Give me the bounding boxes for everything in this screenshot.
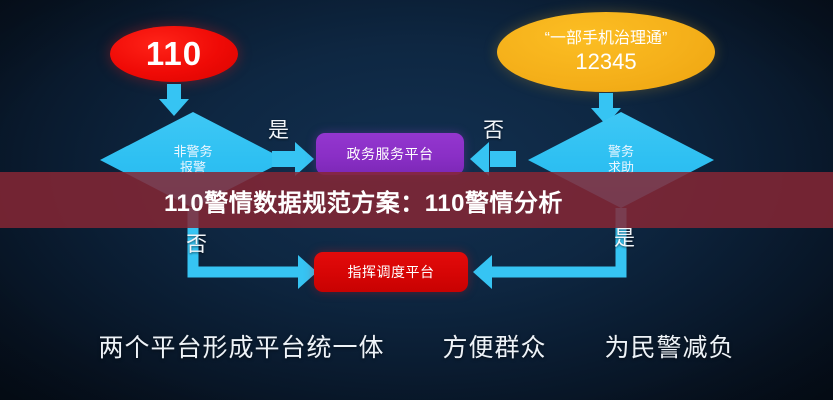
arrow-110-to-decision-head xyxy=(159,99,189,116)
node-source-12345-line2: 12345 xyxy=(575,50,636,75)
arrow-right-no-shaft xyxy=(490,151,516,167)
overlay-banner-title: 110警情数据规范方案：110警情分析 xyxy=(164,183,563,218)
arrow-right-yes-head xyxy=(473,255,492,289)
node-platform-government-label: 政务服务平台 xyxy=(347,144,434,164)
caption-item-0: 两个平台形成平台统一体 xyxy=(98,328,384,364)
arrow-left-yes-shaft xyxy=(272,151,296,167)
overlay-banner: 110警情数据规范方案：110警情分析 xyxy=(0,172,833,228)
node-source-110[interactable]: 110 xyxy=(110,26,238,82)
node-source-110-label: 110 xyxy=(146,36,202,73)
edge-label-left-no: 否 xyxy=(186,228,207,258)
caption-item-1: 方便群众 xyxy=(442,328,546,364)
diagram-canvas: 110 “一部手机治理通” 12345 非警务 报警 警务 求助 是 否 xyxy=(0,0,833,400)
caption-row: 两个平台形成平台统一体 方便群众 为民警减负 xyxy=(0,328,833,364)
node-platform-command[interactable]: 指挥调度平台 xyxy=(314,252,468,292)
arrow-110-to-decision-shaft xyxy=(167,84,181,100)
edge-label-left-yes: 是 xyxy=(268,114,289,144)
arrow-right-no-head xyxy=(470,142,489,176)
edge-label-right-no: 否 xyxy=(483,114,504,144)
arrow-left-yes-head xyxy=(295,142,314,176)
node-platform-government[interactable]: 政务服务平台 xyxy=(316,133,464,175)
caption-item-2: 为民警减负 xyxy=(605,328,735,364)
node-decision-non-police-line1: 非警务 xyxy=(173,144,212,160)
node-source-12345[interactable]: “一部手机治理通” 12345 xyxy=(497,12,715,92)
node-source-12345-line1: “一部手机治理通” xyxy=(545,30,668,48)
node-platform-command-label: 指挥调度平台 xyxy=(348,262,435,282)
arrow-12345-to-decision-shaft xyxy=(599,93,613,109)
node-decision-police-help-line1: 警务 xyxy=(608,144,634,160)
